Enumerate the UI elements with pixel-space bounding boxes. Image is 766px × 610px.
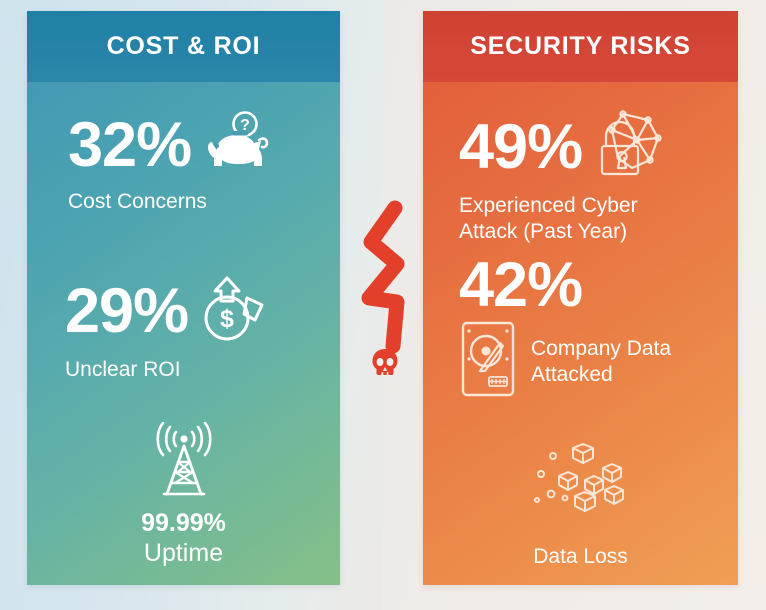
stat-cyber-attack-row: 49% (459, 110, 666, 185)
stat-company-data-label: Company Data Attacked (531, 336, 671, 387)
stat-uptime-label: Uptime (27, 539, 340, 569)
uptime-text-block: 99.99% Uptime (27, 509, 340, 568)
stat-unclear-roi: 29% $ Unclear ROI (65, 274, 270, 383)
cost-roi-card-body: 32% ? Cost Concerns (27, 82, 340, 585)
stat-unclear-roi-value: 29% (65, 280, 188, 343)
stat-cyber-attack: 49% (459, 110, 666, 244)
infographic-root: COST & ROI 32% ? (0, 0, 766, 610)
stat-data-loss: Data Loss (423, 442, 738, 569)
stat-cost-concerns: 32% ? Cost Concerns (68, 110, 271, 215)
radio-tower-icon-wrap (27, 422, 340, 503)
stat-cyber-attack-label: Experienced Cyber Attack (Past Year) (459, 193, 666, 244)
piggy-bank-question-icon: ? (201, 110, 271, 181)
center-divider-mark (355, 198, 415, 398)
stat-cost-concerns-label: Cost Concerns (68, 189, 271, 215)
stat-company-data-row: Company Data Attacked (459, 319, 671, 404)
stat-unclear-roi-row: 29% $ (65, 274, 270, 349)
cost-roi-card-header: COST & ROI (27, 11, 340, 82)
stat-data-loss-label: Data Loss (423, 545, 738, 569)
svg-text:$: $ (220, 305, 234, 333)
scattered-boxes-icon-wrap (423, 442, 738, 519)
lightning-bolt-icon (355, 198, 415, 358)
stat-cost-concerns-value: 32% (68, 114, 191, 177)
security-risks-card: SECURITY RISKS 49% (423, 11, 738, 585)
stat-company-data: 42% (459, 254, 671, 404)
security-risks-card-body: 49% (423, 82, 738, 585)
stat-cyber-attack-value: 49% (459, 116, 582, 179)
dollar-coin-up-arrow-icon: $ (198, 274, 270, 349)
stat-cost-concerns-row: 32% ? (68, 110, 271, 181)
skull-icon (371, 348, 399, 378)
stat-company-data-value: 42% (459, 254, 671, 317)
security-risks-title: SECURITY RISKS (470, 32, 691, 61)
broken-padlock-network-icon (592, 110, 666, 185)
security-risks-card-header: SECURITY RISKS (423, 11, 738, 82)
stat-uptime-value: 99.99% (27, 509, 340, 539)
cost-roi-title: COST & ROI (107, 32, 261, 61)
cost-roi-card: COST & ROI 32% ? (27, 11, 340, 585)
hard-drive-icon (459, 319, 517, 404)
stat-uptime: 99.99% Uptime (27, 422, 340, 568)
radio-tower-icon (147, 422, 221, 503)
scattered-boxes-icon (529, 442, 633, 519)
stat-unclear-roi-label: Unclear ROI (65, 357, 270, 383)
